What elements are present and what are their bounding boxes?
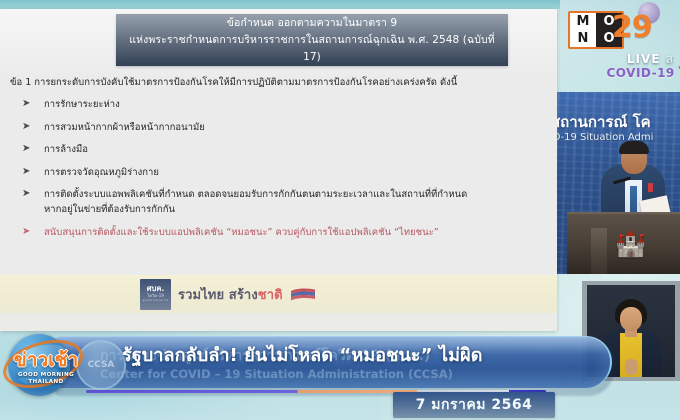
list-item: ➤ การล้างมือ: [10, 142, 530, 157]
lapel-pin-icon: [648, 183, 653, 192]
spokesperson: [601, 130, 665, 222]
list-item-label-continued: หากอยู่ในข่ายที่ต้องรับการกักกัน: [44, 202, 530, 217]
list-item-label: สนับสนุนการติดตั้งและใช้ระบบแอปพลิเคชัน …: [44, 227, 439, 238]
list-item-label: การติดตั้งระบบแอพพลิเคชันที่กำหนด ตลอดจน…: [44, 189, 467, 200]
press-conference-feed: สถานการณ์ โค VID-19 Situation Admi 🏰: [557, 92, 680, 274]
interpreter-face: [620, 307, 642, 331]
list-item: ➤ การติดตั้งระบบแอพพลิเคชันที่กำหนด ตลอด…: [10, 187, 530, 217]
slide-body: ข้อ 1 การยกระดับการบังคับใช้มาตรการป้องก…: [10, 75, 530, 247]
ccsa-logo-line2: โควิด-19: [147, 294, 164, 298]
bottom-glow: [0, 390, 680, 420]
list-item-highlighted: ➤ สนับสนุนการติดตั้งและใช้ระบบแอปพลิเคชั…: [10, 225, 530, 240]
garuda-emblem-icon: 🏰: [615, 228, 645, 260]
ticker-ghost-english: Center for COVID – 19 Situation Administ…: [100, 367, 612, 381]
program-thai-name: ข่าวเช้า: [0, 350, 92, 370]
covid-overlay-label: COVID-19 ไ: [526, 64, 680, 83]
logo-letter-m: M: [570, 13, 596, 30]
spokesperson-hair: [619, 141, 649, 154]
top-accent-strip: [0, 0, 560, 9]
program-english-line2: THAILAND: [2, 379, 90, 386]
arrow-bullet-icon: ➤: [22, 119, 30, 134]
list-item: ➤ การสวมหน้ากากผ้าหรือหน้ากากอนามัย: [10, 120, 530, 135]
ccsa-logo-line3: ศูนย์บริหารสถานการณ์: [143, 300, 169, 303]
logo-letter-n: N: [570, 30, 596, 47]
measures-list: ➤ การรักษาระยะห่าง ➤ การสวมหน้ากากผ้าหรื…: [10, 97, 530, 240]
slide-title-line1: ข้อกำหนด ออกตามความในมาตรา 9: [227, 15, 397, 32]
arrow-bullet-icon: ➤: [22, 186, 30, 201]
list-item-label: การสวมหน้ากากผ้าหรือหน้ากากอนามัย: [44, 122, 205, 133]
ccsa-logo-line1: ศบค.: [147, 285, 164, 293]
arrow-bullet-icon: ➤: [22, 164, 30, 179]
list-item-label: การรักษาระยะห่าง: [44, 99, 120, 110]
slide-footer-band: ศบค. โควิด-19 ศูนย์บริหารสถานการณ์ รวมไท…: [0, 275, 557, 313]
arrow-bullet-icon: ➤: [22, 224, 30, 239]
broadcast-screen: ข้อกำหนด ออกตามความในมาตรา 9 แห่งพระราชก…: [0, 0, 680, 420]
national-slogan: รวมไทย สร้างชาติ: [178, 284, 316, 305]
logo-channel-number: 29: [612, 12, 652, 44]
presentation-slide: ข้อกำหนด ออกตามความในมาตรา 9 แห่งพระราชก…: [0, 9, 557, 331]
ccsa-logo-icon: ศบค. โควิด-19 ศูนย์บริหารสถานการณ์: [140, 279, 171, 310]
list-item-label: การตรวจวัดอุณหภูมิร่างกาย: [44, 167, 159, 178]
program-english-name: GOOD MORNING THAILAND: [2, 372, 90, 386]
channel-logo: M O N O 29: [570, 10, 662, 50]
thai-flag-icon: [290, 288, 316, 301]
slogan-part-black: รวมไทย สร้าง: [178, 288, 258, 303]
slide-footer-content: ศบค. โควิด-19 ศูนย์บริหารสถานการณ์ รวมไท…: [140, 275, 316, 313]
program-english-line1: GOOD MORNING: [2, 372, 90, 379]
news-headline: รัฐบาลกลับลำ! ยันไม่โหลด “หมอชนะ” ไม่ผิด: [122, 344, 562, 368]
list-item: ➤ การตรวจวัดอุณหภูมิร่างกาย: [10, 165, 530, 180]
arrow-bullet-icon: ➤: [22, 141, 30, 156]
slide-title-line2: แห่งพระราชกำหนดการบริหารราชการในสถานการณ…: [122, 32, 502, 66]
podium: 🏰: [567, 212, 680, 274]
slogan-part-red: ชาติ: [258, 288, 283, 303]
interpreter-hand: [625, 359, 638, 375]
list-item-label: การล้างมือ: [44, 144, 88, 155]
arrow-bullet-icon: ➤: [22, 96, 30, 111]
slide-clause: ข้อ 1 การยกระดับการบังคับใช้มาตรการป้องก…: [10, 75, 530, 90]
podium-stem: [591, 228, 607, 274]
slide-title-band: ข้อกำหนด ออกตามความในมาตรา 9 แห่งพระราชก…: [116, 14, 508, 66]
list-item: ➤ การรักษาระยะห่าง: [10, 97, 530, 112]
